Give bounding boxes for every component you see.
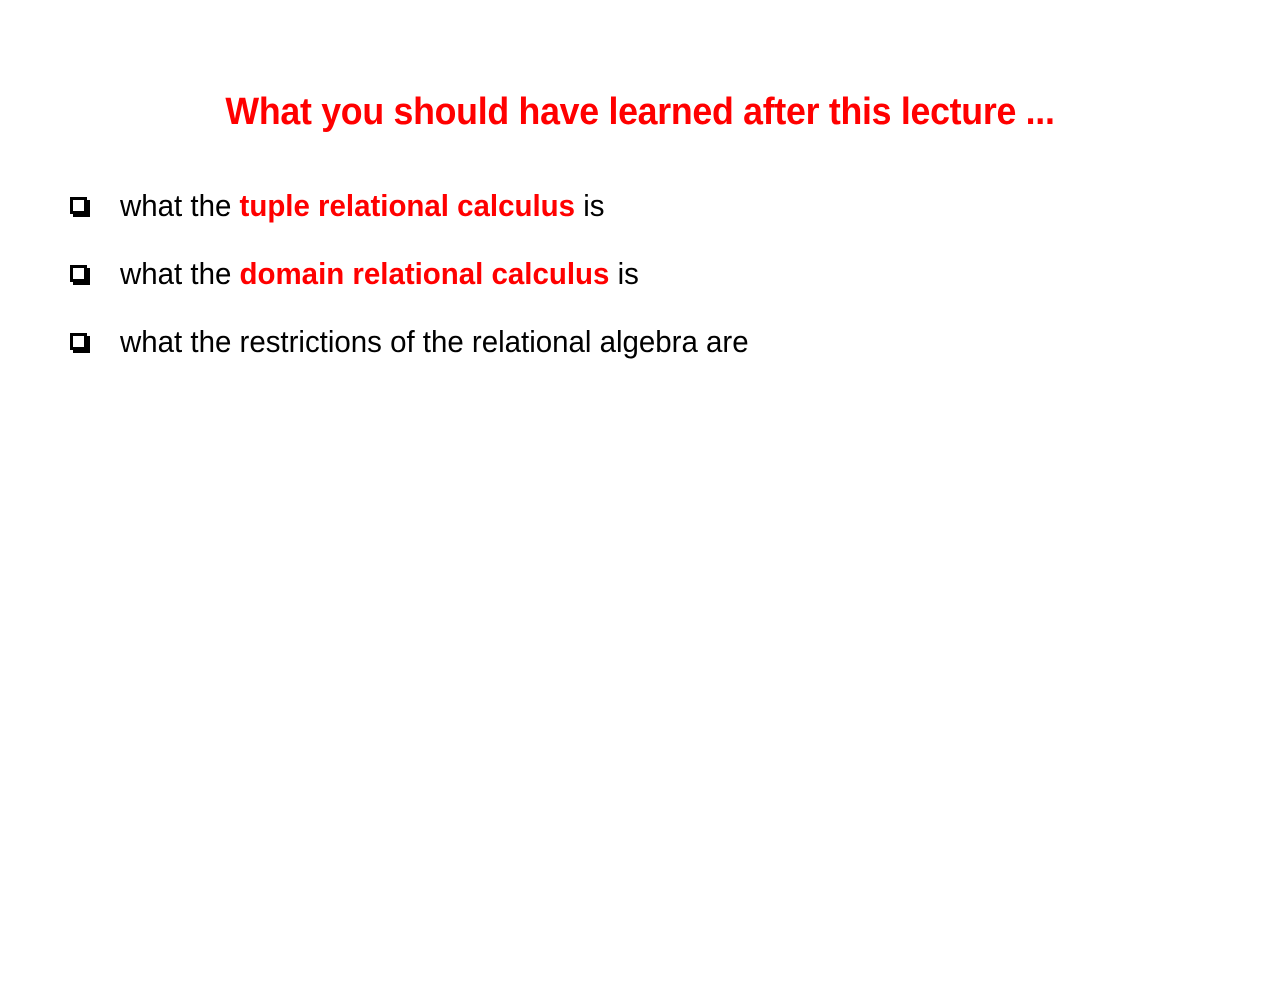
learning-objectives-list: what the tuple relational calculus is wh…	[70, 186, 1230, 390]
list-item: what the domain relational calculus is	[70, 254, 1230, 322]
slide-canvas: What you should have learned after this …	[0, 0, 1280, 989]
list-item-lead-text: what the restrictions of the relational …	[120, 324, 749, 359]
list-item-lead-text: what the	[120, 188, 240, 223]
list-item: what the restrictions of the relational …	[70, 322, 1230, 390]
shadowed-square-bullet-icon	[70, 197, 87, 214]
list-item-tail-text: is	[609, 256, 638, 291]
list-item-lead-text: what the	[120, 256, 240, 291]
list-item-emphasis-text: tuple relational calculus	[240, 188, 575, 223]
list-item-text: what the tuple relational calculus is	[120, 186, 604, 226]
list-item-emphasis-text: domain relational calculus	[240, 256, 610, 291]
list-item: what the tuple relational calculus is	[70, 186, 1230, 254]
list-item-text: what the domain relational calculus is	[120, 254, 639, 294]
shadowed-square-bullet-icon	[70, 333, 87, 350]
list-item-tail-text: is	[575, 188, 604, 223]
shadowed-square-bullet-icon	[70, 265, 87, 282]
page-title: What you should have learned after this …	[38, 92, 1241, 134]
list-item-text: what the restrictions of the relational …	[120, 322, 749, 362]
